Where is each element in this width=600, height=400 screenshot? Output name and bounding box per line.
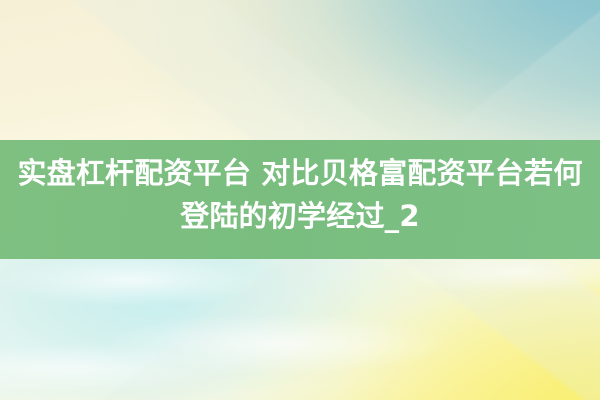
page-title: 实盘杠杆配资平台 对比贝格富配资平台若何登陆的初学经过_2: [0, 152, 600, 238]
screenshot-root: 实盘杠杆配资平台 对比贝格富配资平台若何登陆的初学经过_2: [0, 0, 600, 400]
